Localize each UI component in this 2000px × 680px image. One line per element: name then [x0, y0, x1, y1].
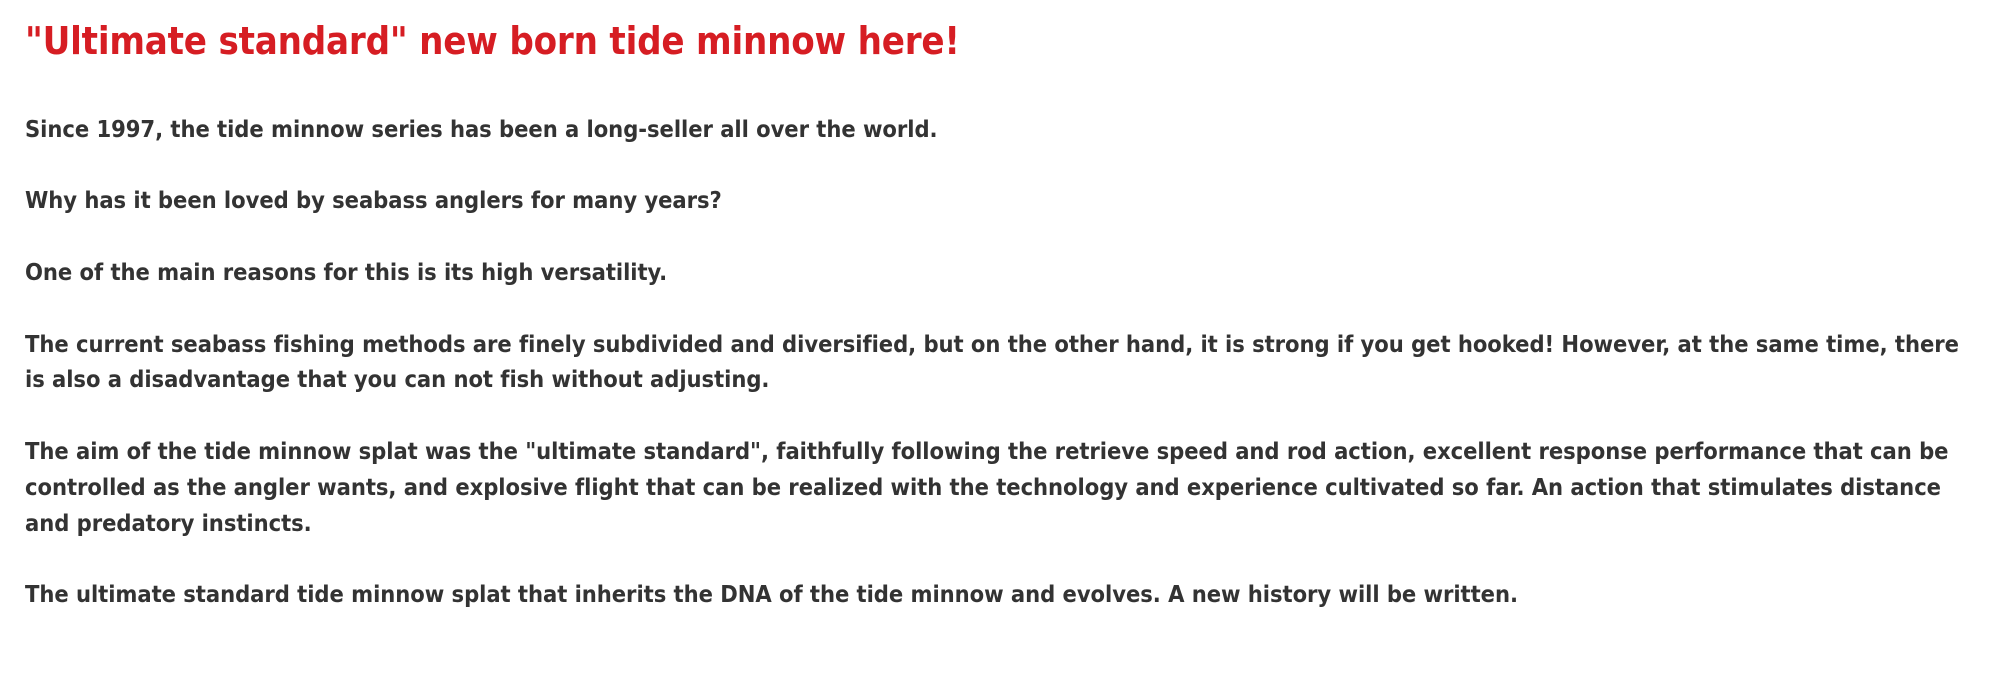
body-paragraph: The current seabass fishing methods are … — [25, 327, 1980, 398]
body-paragraph: Since 1997, the tide minnow series has b… — [25, 112, 1980, 148]
body-paragraph: Why has it been loved by seabass anglers… — [25, 183, 1980, 219]
article-body: Since 1997, the tide minnow series has b… — [25, 112, 1980, 613]
page-title: "Ultimate standard" new born tide minnow… — [25, 0, 1980, 66]
body-paragraph: The ultimate standard tide minnow splat … — [25, 577, 1980, 613]
body-paragraph: One of the main reasons for this is its … — [25, 255, 1980, 291]
body-paragraph: The aim of the tide minnow splat was the… — [25, 434, 1980, 541]
article-page: "Ultimate standard" new born tide minnow… — [0, 0, 2000, 680]
